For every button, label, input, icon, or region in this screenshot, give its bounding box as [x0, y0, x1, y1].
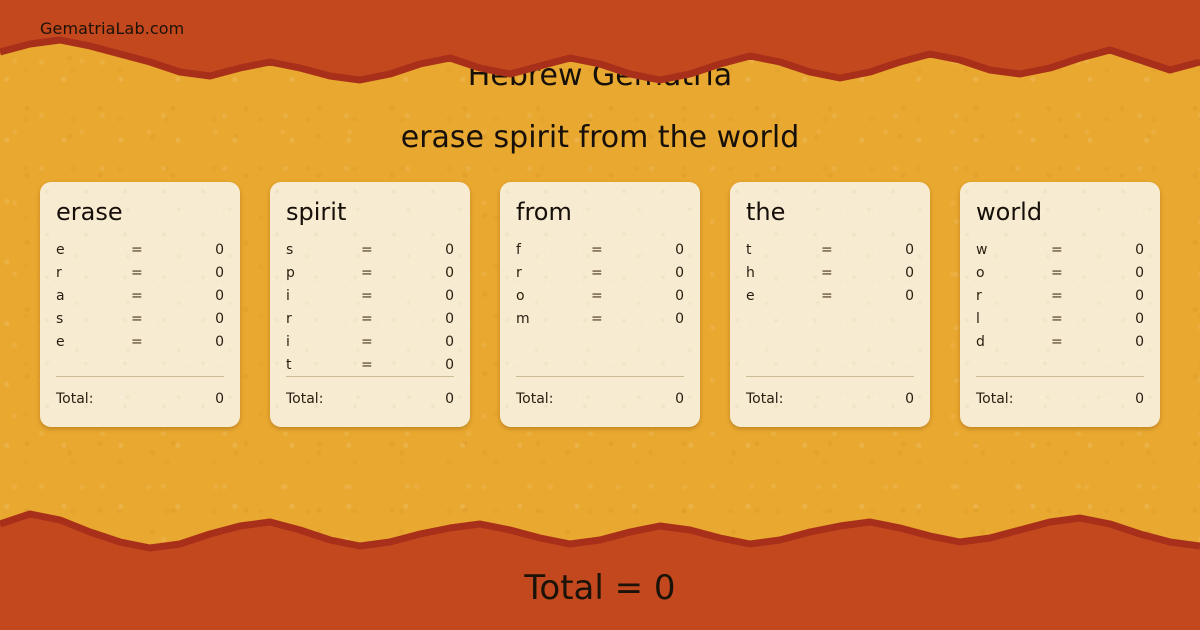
top-banner	[0, 0, 1200, 120]
card-total-label: Total:	[56, 391, 93, 407]
letter-row: r = 0	[976, 288, 1144, 311]
letter-row: w = 0	[976, 242, 1144, 265]
equals-sign: =	[1051, 334, 1096, 350]
word-card: spirit s = 0 p = 0 i = 0 r	[270, 182, 470, 427]
card-total-value: 0	[905, 391, 914, 407]
footer-divider	[976, 376, 1144, 377]
equals-sign: =	[1051, 265, 1096, 281]
card-footer: Total: 0	[286, 376, 454, 407]
equals-sign: =	[361, 288, 406, 304]
letter-glyph: o	[516, 288, 591, 304]
letter-glyph: e	[56, 334, 131, 350]
letter-row: o = 0	[516, 288, 684, 311]
letter-glyph: m	[516, 311, 591, 327]
letter-glyph: a	[56, 288, 131, 304]
letter-value: 0	[176, 242, 224, 258]
letter-glyph: s	[56, 311, 131, 327]
card-total-label: Total:	[746, 391, 783, 407]
letter-row: r = 0	[516, 265, 684, 288]
letter-row: f = 0	[516, 242, 684, 265]
card-total-value: 0	[445, 391, 454, 407]
card-total-label: Total:	[976, 391, 1013, 407]
equals-sign: =	[131, 311, 176, 327]
card-total-row: Total: 0	[746, 391, 914, 407]
letter-glyph: w	[976, 242, 1051, 258]
letter-row: s = 0	[56, 311, 224, 334]
equals-sign: =	[821, 288, 866, 304]
letter-row: i = 0	[286, 288, 454, 311]
letter-row: d = 0	[976, 334, 1144, 357]
equals-sign: =	[131, 242, 176, 258]
word-card-list: erase e = 0 r = 0 a = 0 s	[40, 182, 1160, 427]
letter-row: e = 0	[746, 288, 914, 311]
letter-value: 0	[636, 311, 684, 327]
card-total-value: 0	[215, 391, 224, 407]
letter-value: 0	[176, 288, 224, 304]
letter-row: h = 0	[746, 265, 914, 288]
letter-glyph: e	[746, 288, 821, 304]
letter-glyph: t	[746, 242, 821, 258]
card-total-value: 0	[675, 391, 684, 407]
letter-value: 0	[176, 265, 224, 281]
letter-row-list: s = 0 p = 0 i = 0 r = 0	[286, 242, 454, 380]
card-total-row: Total: 0	[516, 391, 684, 407]
word-card: world w = 0 o = 0 r = 0 l	[960, 182, 1160, 427]
letter-value: 0	[636, 265, 684, 281]
letter-row: o = 0	[976, 265, 1144, 288]
card-total-label: Total:	[286, 391, 323, 407]
equals-sign: =	[821, 242, 866, 258]
letter-value: 0	[866, 265, 914, 281]
footer-divider	[746, 376, 914, 377]
letter-row: e = 0	[56, 242, 224, 265]
letter-glyph: r	[286, 311, 361, 327]
letter-value: 0	[866, 288, 914, 304]
letter-value: 0	[866, 242, 914, 258]
footer-divider	[286, 376, 454, 377]
card-footer: Total: 0	[56, 376, 224, 407]
equals-sign: =	[131, 334, 176, 350]
letter-row-list: w = 0 o = 0 r = 0 l = 0	[976, 242, 1144, 357]
letter-glyph: d	[976, 334, 1051, 350]
equals-sign: =	[591, 288, 636, 304]
letter-glyph: e	[56, 242, 131, 258]
equals-sign: =	[131, 288, 176, 304]
letter-value: 0	[406, 357, 454, 373]
card-word: spirit	[286, 200, 454, 224]
word-card: from f = 0 r = 0 o = 0 m	[500, 182, 700, 427]
equals-sign: =	[821, 265, 866, 281]
footer-divider	[516, 376, 684, 377]
equals-sign: =	[591, 242, 636, 258]
letter-row: m = 0	[516, 311, 684, 334]
word-card: the t = 0 h = 0 e = 0	[730, 182, 930, 427]
letter-row-list: t = 0 h = 0 e = 0	[746, 242, 914, 311]
letter-row: e = 0	[56, 334, 224, 357]
letter-glyph: h	[746, 265, 821, 281]
letter-glyph: r	[516, 265, 591, 281]
card-word: world	[976, 200, 1144, 224]
equals-sign: =	[1051, 311, 1096, 327]
card-footer: Total: 0	[746, 376, 914, 407]
card-word: erase	[56, 200, 224, 224]
equals-sign: =	[361, 311, 406, 327]
letter-value: 0	[1096, 334, 1144, 350]
card-total-row: Total: 0	[976, 391, 1144, 407]
letter-row: r = 0	[56, 265, 224, 288]
card-total-label: Total:	[516, 391, 553, 407]
equals-sign: =	[591, 311, 636, 327]
letter-glyph: l	[976, 311, 1051, 327]
letter-value: 0	[406, 265, 454, 281]
letter-value: 0	[1096, 311, 1144, 327]
footer-divider	[56, 376, 224, 377]
card-footer: Total: 0	[516, 376, 684, 407]
letter-glyph: p	[286, 265, 361, 281]
equals-sign: =	[361, 242, 406, 258]
equals-sign: =	[131, 265, 176, 281]
word-card: erase e = 0 r = 0 a = 0 s	[40, 182, 240, 427]
letter-value: 0	[406, 288, 454, 304]
gematria-page: GematriaLab.com Hebrew Gematria erase sp…	[0, 0, 1200, 630]
letter-value: 0	[1096, 242, 1144, 258]
equals-sign: =	[361, 357, 406, 373]
letter-glyph: f	[516, 242, 591, 258]
letter-row: i = 0	[286, 334, 454, 357]
equals-sign: =	[1051, 288, 1096, 304]
letter-value: 0	[406, 334, 454, 350]
letter-glyph: t	[286, 357, 361, 373]
letter-value: 0	[176, 334, 224, 350]
letter-value: 0	[406, 311, 454, 327]
equals-sign: =	[591, 265, 636, 281]
card-total-row: Total: 0	[286, 391, 454, 407]
letter-value: 0	[636, 242, 684, 258]
card-word: the	[746, 200, 914, 224]
letter-glyph: r	[976, 288, 1051, 304]
letter-row: l = 0	[976, 311, 1144, 334]
card-total-value: 0	[1135, 391, 1144, 407]
site-name[interactable]: GematriaLab.com	[40, 19, 184, 38]
bottom-banner	[0, 500, 1200, 630]
letter-row-list: e = 0 r = 0 a = 0 s = 0	[56, 242, 224, 357]
letter-glyph: s	[286, 242, 361, 258]
letter-row: a = 0	[56, 288, 224, 311]
equals-sign: =	[361, 265, 406, 281]
letter-value: 0	[1096, 265, 1144, 281]
card-total-row: Total: 0	[56, 391, 224, 407]
letter-row: s = 0	[286, 242, 454, 265]
letter-row-list: f = 0 r = 0 o = 0 m = 0	[516, 242, 684, 334]
card-footer: Total: 0	[976, 376, 1144, 407]
phrase-title: erase spirit from the world	[0, 120, 1200, 155]
equals-sign: =	[1051, 242, 1096, 258]
card-word: from	[516, 200, 684, 224]
equals-sign: =	[361, 334, 406, 350]
letter-glyph: i	[286, 334, 361, 350]
grand-total: Total = 0	[0, 568, 1200, 608]
letter-value: 0	[406, 242, 454, 258]
letter-glyph: o	[976, 265, 1051, 281]
letter-glyph: i	[286, 288, 361, 304]
letter-row: r = 0	[286, 311, 454, 334]
letter-value: 0	[176, 311, 224, 327]
letter-value: 0	[636, 288, 684, 304]
letter-row: p = 0	[286, 265, 454, 288]
letter-value: 0	[1096, 288, 1144, 304]
letter-glyph: r	[56, 265, 131, 281]
letter-row: t = 0	[746, 242, 914, 265]
